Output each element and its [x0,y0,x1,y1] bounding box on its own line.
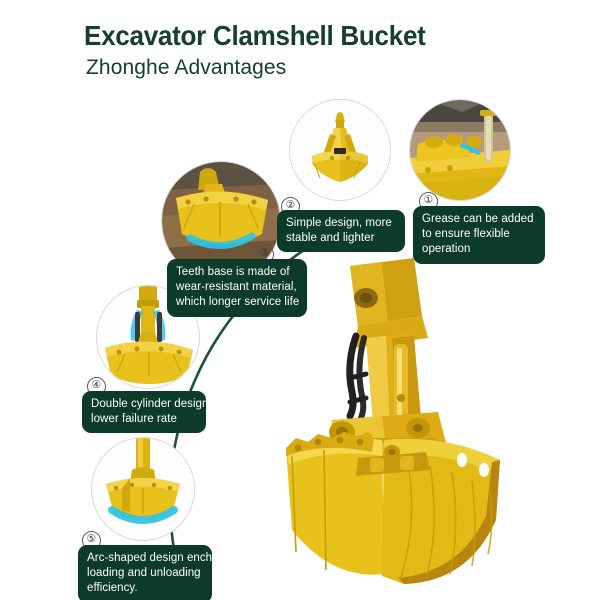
callout-feature-5[interactable]: Arc-shaped design enchance loading and u… [78,545,212,600]
callout-line: Grease can be added [422,212,536,227]
callout-line: loading and unloading [87,566,203,581]
main-product-art [262,252,600,600]
callout-feature-2[interactable]: Simple design, more stable and lighter [277,210,405,252]
callout-feature-3[interactable]: Teeth base is made of wear-resistant mat… [167,259,307,317]
callout-line: lower failure rate [91,412,197,427]
callout-line: efficiency. [87,581,203,596]
callout-line: which longer service life [176,295,298,310]
callout-line: operation [422,242,536,257]
main-product-image [262,252,600,600]
callout-line: wear-resistant material, [176,280,298,295]
poster-canvas: Excavator Clamshell Bucket Zhonghe Advan… [0,0,600,600]
page-title: Excavator Clamshell Bucket [84,20,426,52]
callout-line: to ensure flexible [422,227,536,242]
callout-feature-1[interactable]: Grease can be added to ensure flexible o… [413,206,545,264]
callout-line: stable and lighter [286,231,396,246]
photo-arc-shape [91,437,195,541]
photo-grease-fitting-art [410,100,510,200]
photo-full-bucket [289,99,391,201]
photo-full-bucket-art [290,100,390,200]
callout-line: Arc-shaped design enchance [87,551,203,566]
callout-line: Double cylinder design to [91,397,197,412]
callout-line: Simple design, more [286,216,396,231]
page-subtitle: Zhonghe Advantages [86,56,286,80]
callout-line: Teeth base is made of [176,265,298,280]
photo-grease-fitting [409,99,511,201]
photo-arc-shape-art [92,438,194,540]
callout-feature-4[interactable]: Double cylinder design to lower failure … [82,391,206,433]
